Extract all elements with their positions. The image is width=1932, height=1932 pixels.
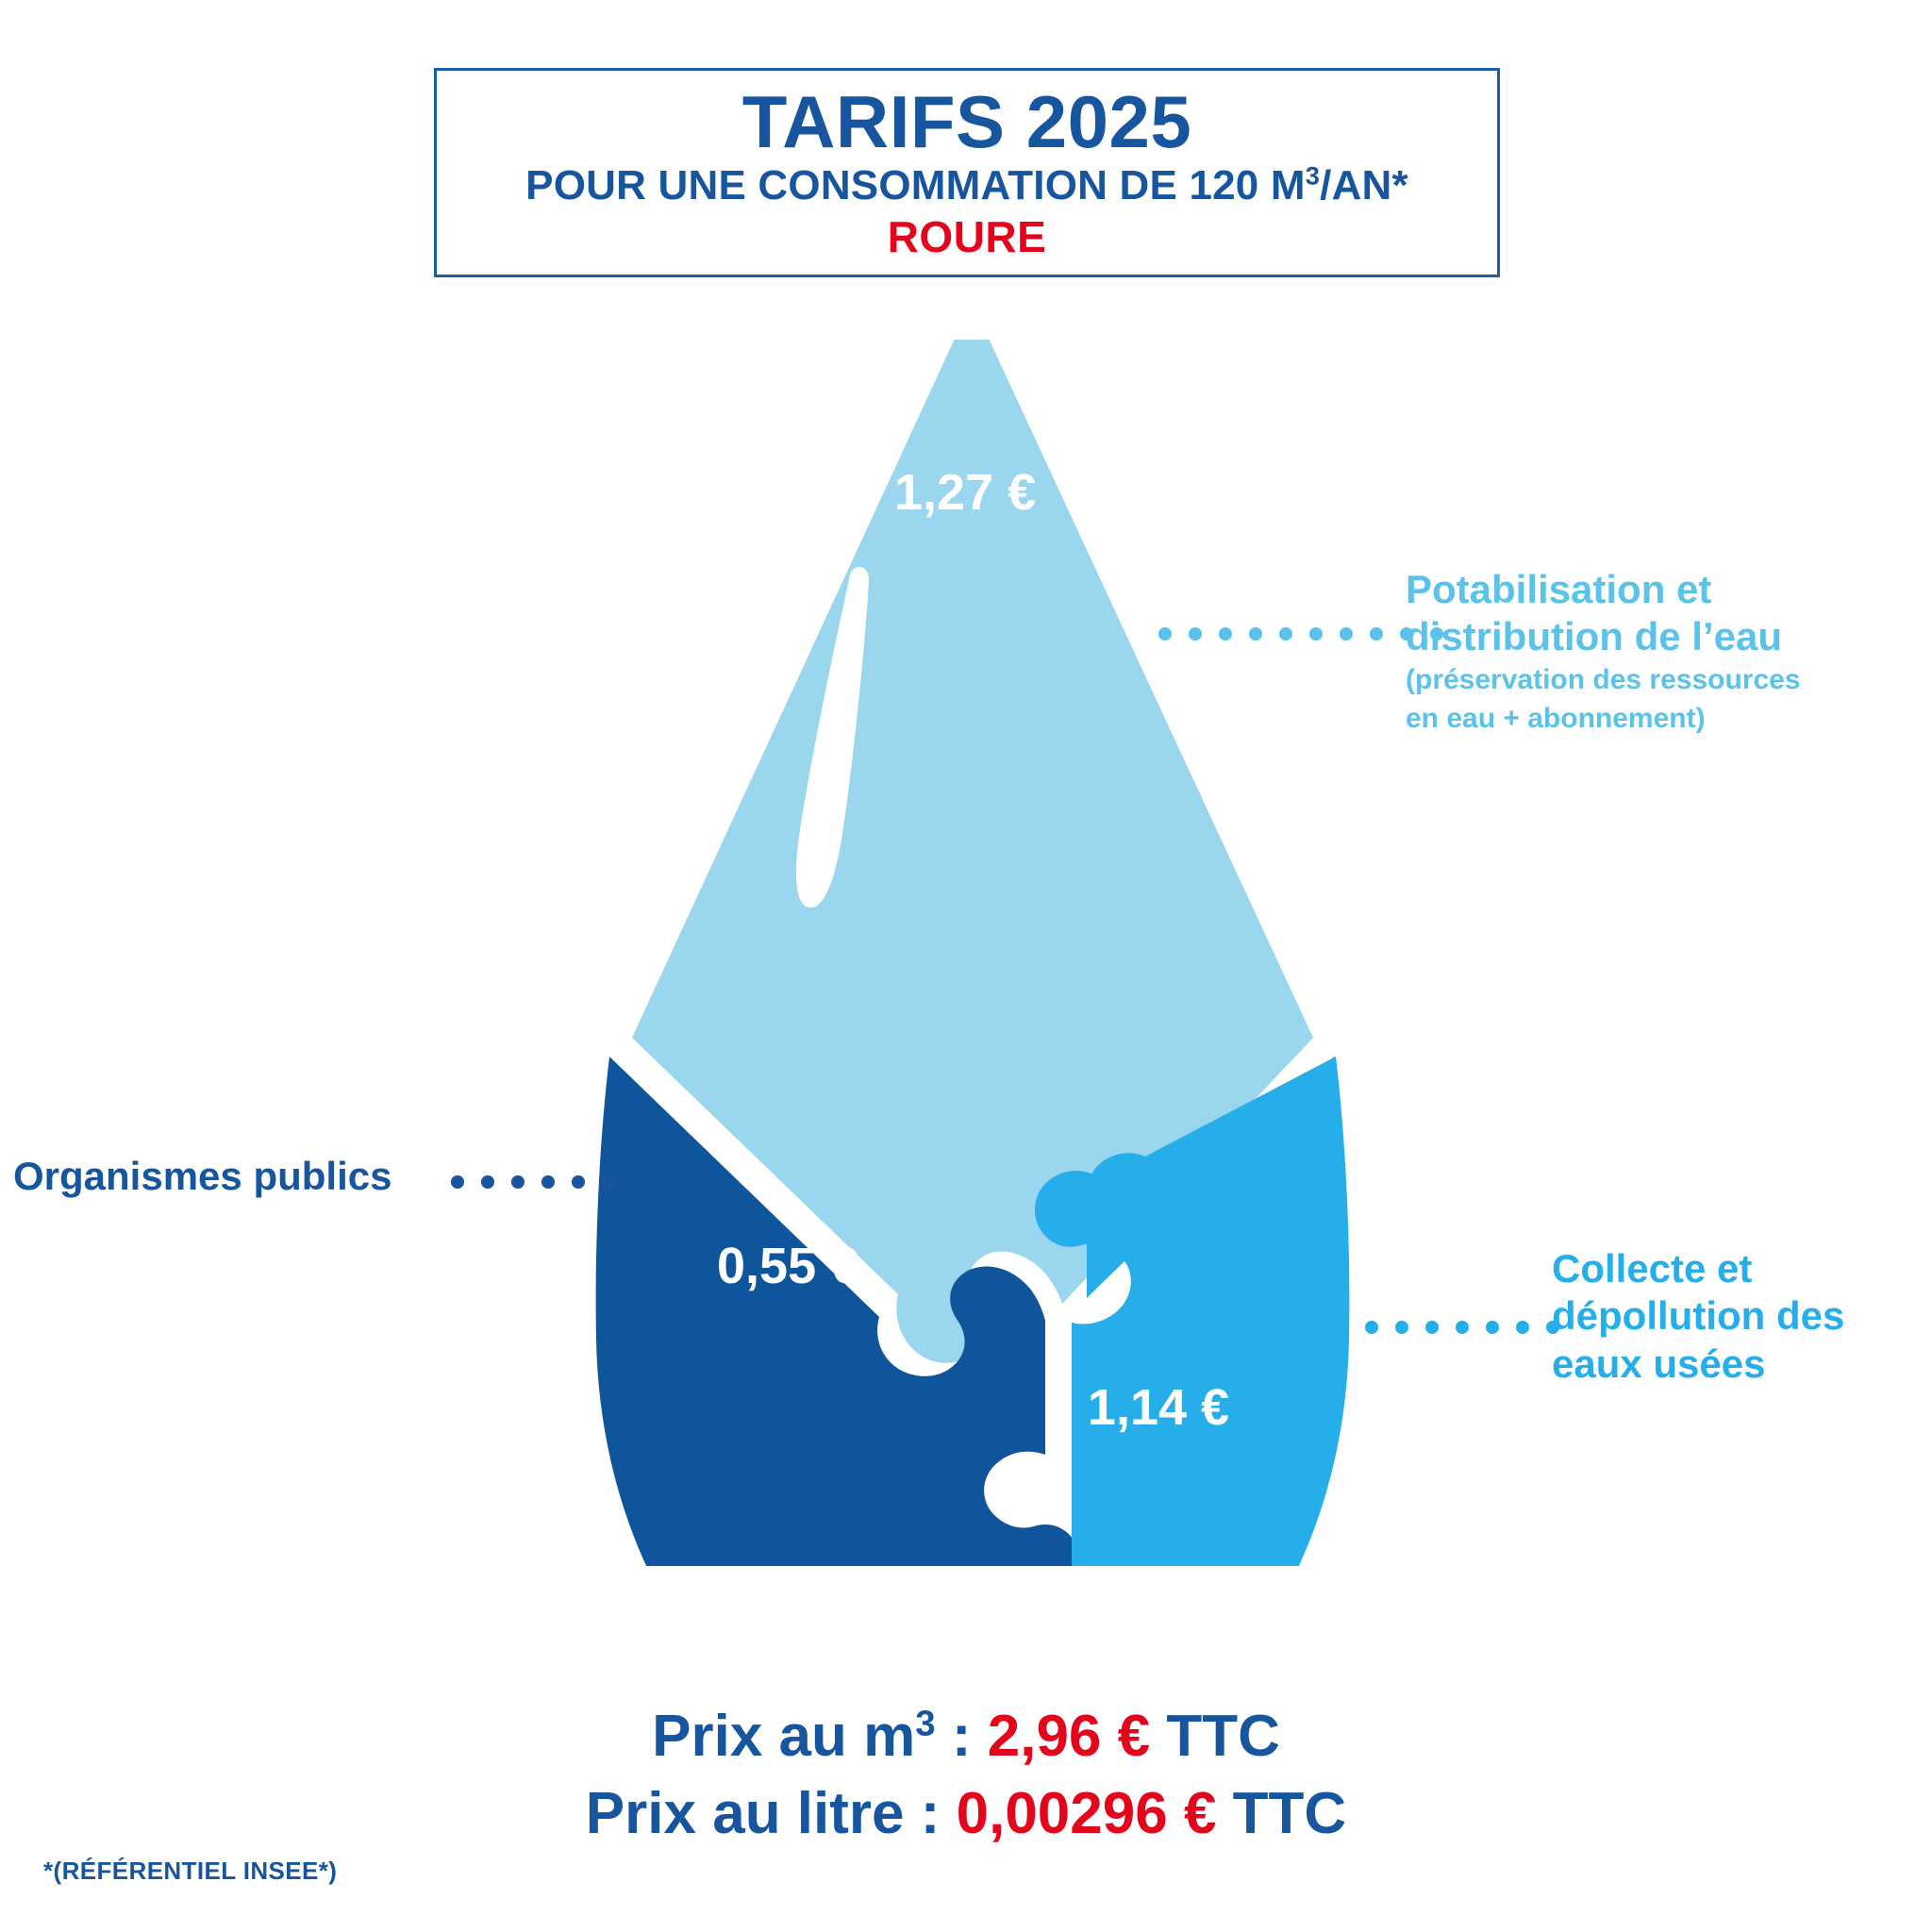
legend-potabilisation-note1: (préservation des ressources (1406, 663, 1896, 698)
leader-dots-potabilisation (1158, 627, 1443, 641)
dot (1516, 1321, 1529, 1334)
price-litre-suffix: TTC (1216, 1781, 1346, 1846)
dot (1340, 627, 1353, 641)
leader-dots-collecte (1335, 1321, 1559, 1334)
dot (1158, 627, 1172, 641)
droplet-svg: 1,27 € 0,55 € 1,14 € (547, 340, 1396, 1566)
dot (1249, 627, 1262, 641)
legend-potabilisation-note2: en eau + abonnement) (1406, 702, 1896, 737)
legend-label-potabilisation: Potabilisation et distribution de l’eau … (1406, 566, 1896, 736)
legend-potabilisation-line1: Potabilisation et (1406, 566, 1896, 613)
dot (602, 1175, 615, 1189)
header-subtitle-exponent: 3 (1306, 160, 1320, 190)
droplet-value-collecte: 1,14 € (1088, 1379, 1229, 1436)
dot (1395, 1321, 1408, 1334)
dot (1486, 1321, 1499, 1334)
page-title: TARIFS 2025 (742, 85, 1192, 158)
dot (481, 1175, 494, 1189)
header-subtitle-suffix: /AN* (1320, 162, 1408, 208)
legend-collecte-line3: eaux usées (1552, 1341, 1929, 1388)
dot (1370, 627, 1383, 641)
water-drop-puzzle-chart: 1,27 € 0,55 € 1,14 € (547, 340, 1396, 1566)
price-m3-suffix: TTC (1150, 1704, 1280, 1769)
dot (1456, 1321, 1469, 1334)
price-litre-value: 0,00296 € (957, 1781, 1217, 1846)
legend-collecte-line1: Collecte et (1552, 1245, 1929, 1292)
legend-label-organismes: Organismes publics (13, 1153, 438, 1200)
price-m3-label: Prix au m (652, 1704, 915, 1769)
dot (1365, 1321, 1378, 1334)
dot (511, 1175, 525, 1189)
dot (1189, 627, 1202, 641)
droplet-value-organismes: 0,55 € (717, 1238, 858, 1294)
price-m3-separator: : (936, 1704, 988, 1769)
dot (1335, 1321, 1348, 1334)
leader-dots-organismes (451, 1175, 615, 1189)
price-litre-label: Prix au litre : (586, 1781, 957, 1846)
dot (1219, 627, 1232, 641)
dot (572, 1175, 585, 1189)
legend-potabilisation-line2: distribution de l’eau (1406, 613, 1896, 660)
price-summary: Prix au m3 : 2,96 € TTC Prix au litre : … (0, 1698, 1932, 1853)
dot (1309, 627, 1323, 641)
legend-label-collecte: Collecte et dépollution des eaux usées (1552, 1245, 1929, 1388)
footnote: *(RÉFÉRENTIEL INSEE*) (43, 1857, 337, 1886)
price-m3-exponent: 3 (915, 1703, 935, 1743)
header-subtitle: POUR UNE CONSOMMATION DE 120 M3/AN* (525, 164, 1408, 208)
price-per-cubic-meter: Prix au m3 : 2,96 € TTC (0, 1698, 1932, 1775)
header-box: TARIFS 2025 POUR UNE CONSOMMATION DE 120… (434, 68, 1500, 277)
dot (451, 1175, 464, 1189)
legend-collecte-line2: dépollution des (1552, 1292, 1929, 1340)
droplet-value-potabilisation: 1,27 € (894, 464, 1036, 521)
price-per-litre: Prix au litre : 0,00296 € TTC (0, 1775, 1932, 1853)
header-subtitle-prefix: POUR UNE CONSOMMATION DE 120 M (525, 162, 1306, 208)
header-city-name: ROURE (888, 213, 1047, 261)
dot (541, 1175, 555, 1189)
price-m3-value: 2,96 € (988, 1704, 1150, 1769)
dot (1425, 1321, 1439, 1334)
dot (1279, 627, 1292, 641)
